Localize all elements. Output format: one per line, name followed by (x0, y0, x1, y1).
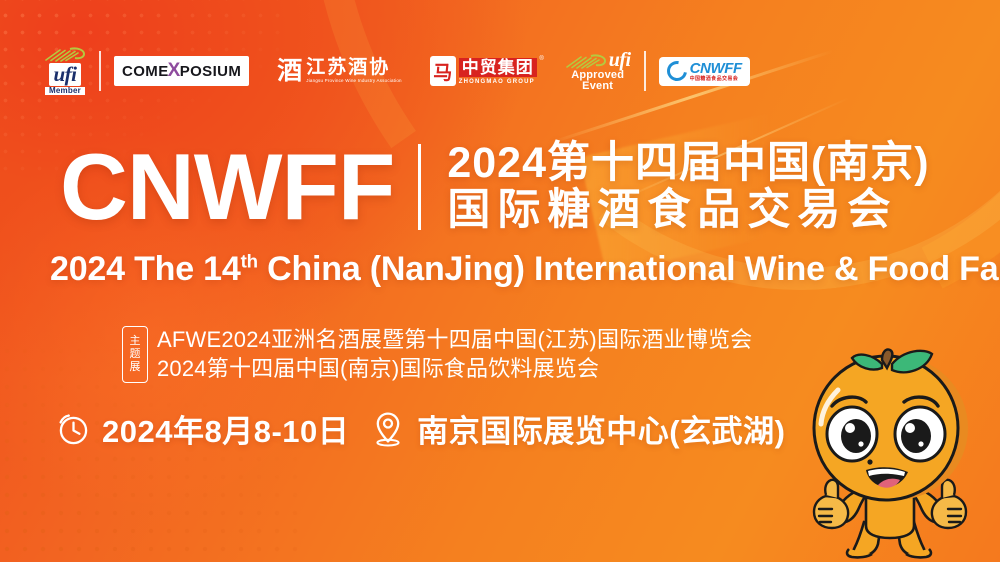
cnwff-ring-icon (663, 57, 691, 85)
event-date: 2024年8月8-10日 (102, 406, 349, 451)
zhongmao-en-name: ZHONGMAO GROUP (459, 79, 537, 85)
cnwff-circle-logo: CNWFF 中国糖酒食品交易会 (659, 47, 750, 95)
location-pin-icon (371, 411, 405, 447)
jiangsu-cn-name: 江苏酒协 (306, 58, 401, 77)
orange-fruit-mascot (786, 346, 1000, 562)
ufi-approved-line2: Event (582, 81, 613, 92)
comexposium-pre: COME (122, 63, 169, 80)
english-subtitle-suffix: China (NanJing) International Wine & Foo… (258, 250, 1000, 288)
event-venue-item: 南京国际展览中心(玄武湖) (371, 406, 785, 451)
ufi-approved-wordmark: ufi (609, 50, 631, 70)
chinese-title: 2024第十四届中国(南京) 国际糖酒食品交易会 (447, 142, 929, 233)
event-acronym: CNWFF (60, 144, 394, 230)
badge-char-3: 展 (130, 361, 141, 373)
sponsor-logo-strip: ufi Member COME X POSIUM 酒 江苏酒协 Jiangsu … (44, 47, 750, 95)
english-subtitle: 2024 The 14th China (NanJing) Internatio… (50, 250, 1000, 289)
event-info-row: 2024年8月8-10日 南京国际展览中心(玄武湖) (56, 406, 785, 451)
ufi-member-label: Member (45, 87, 85, 95)
chinese-title-line-2: 国际糖酒食品交易会 (447, 189, 929, 233)
cnwff-logo-cn: 中国糖酒食品交易会 (690, 77, 742, 82)
ufi-wing-icon (565, 54, 607, 69)
cnwff-logo-en: CNWFF (690, 61, 742, 76)
main-title-row: CNWFF 2024第十四届中国(南京) 国际糖酒食品交易会 (60, 142, 930, 233)
jiangsu-wine-association-logo: 酒 江苏酒协 Jiangsu Province Wine Industry As… (277, 47, 401, 95)
ufi-wing-icon (44, 47, 86, 62)
english-subtitle-ordinal: th (241, 251, 258, 272)
zhongmao-registered-mark: ® (539, 56, 543, 62)
title-divider (418, 144, 421, 230)
chinese-title-line-1: 2024第十四届中国(南京) (447, 142, 929, 186)
zhongmao-mark-icon: 马 (430, 56, 456, 86)
logo-divider-2 (644, 51, 646, 91)
comexposium-logo: COME X POSIUM (114, 47, 249, 95)
badge-char-1: 主 (130, 335, 141, 347)
zhongmao-group-logo: 马 中贸集团 ZHONGMAO GROUP ® (430, 47, 537, 95)
english-subtitle-prefix: 2024 The 14 (50, 250, 241, 288)
clock-icon (56, 412, 90, 446)
sub-exhibition-line-2: 2024第十四届中国(南京)国际食品饮料展览会 (157, 355, 752, 382)
theme-exhibition-badge: 主 题 展 (122, 326, 148, 383)
comexposium-post: POSIUM (180, 63, 242, 80)
sub-exhibitions-block: 主 题 展 AFWE2024亚洲名酒展暨第十四届中国(江苏)国际酒业博览会 20… (122, 326, 752, 383)
sub-exhibition-lines: AFWE2024亚洲名酒展暨第十四届中国(江苏)国际酒业博览会 2024第十四届… (157, 326, 752, 383)
promotional-banner: ufi Member COME X POSIUM 酒 江苏酒协 Jiangsu … (0, 0, 1000, 562)
ufi-approved-event-logo: ufi Approved Event (565, 47, 631, 95)
badge-char-2: 题 (130, 348, 141, 360)
jiangsu-seal-icon: 酒 (277, 59, 302, 84)
event-date-item: 2024年8月8-10日 (56, 406, 349, 451)
sub-exhibition-line-1: AFWE2024亚洲名酒展暨第十四届中国(江苏)国际酒业博览会 (157, 326, 752, 353)
logo-divider-1 (99, 51, 101, 91)
jiangsu-en-name: Jiangsu Province Wine Industry Associati… (306, 79, 401, 84)
event-venue: 南京国际展览中心(玄武湖) (417, 406, 785, 451)
zhongmao-cn-name: 中贸集团 (459, 58, 537, 77)
ufi-member-logo: ufi Member (44, 47, 86, 95)
ufi-wordmark: ufi (49, 63, 80, 85)
